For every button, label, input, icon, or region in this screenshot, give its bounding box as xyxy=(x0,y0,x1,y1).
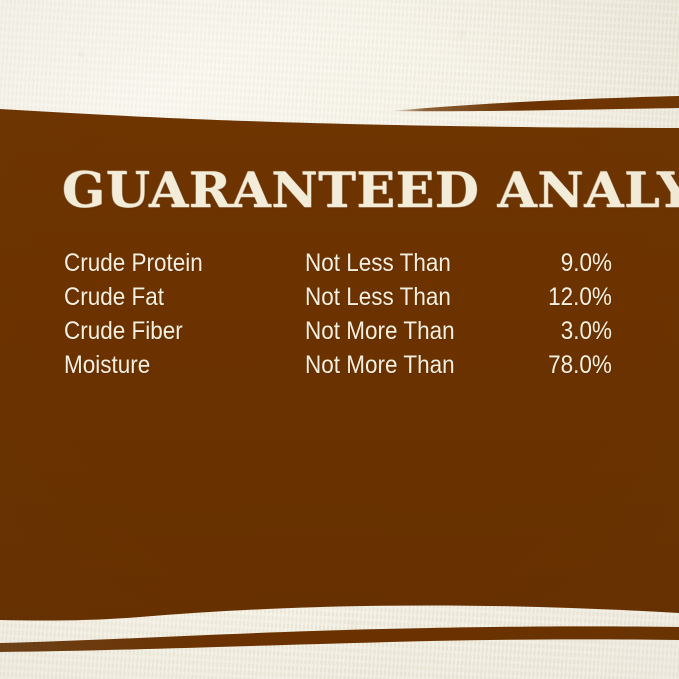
table-row: Crude Fiber Not More Than 3.0% xyxy=(0,314,679,348)
table-row: Crude Protein Not Less Than 9.0% xyxy=(0,246,679,280)
qualifier-label: Not Less Than xyxy=(305,280,451,314)
value-label: 12.0% xyxy=(548,280,612,314)
qualifier-label: Not More Than xyxy=(305,348,455,382)
qualifier-label: Not Less Than xyxy=(305,246,451,280)
nutrient-label: Crude Fiber xyxy=(64,314,183,348)
value-label: 9.0% xyxy=(561,246,612,280)
nutrient-label: Crude Fat xyxy=(64,280,164,314)
nutrient-label: Moisture xyxy=(64,348,150,382)
guaranteed-analysis-panel: GUARANTEED ANALYSIS Crude Protein Not Le… xyxy=(0,0,679,679)
page-title: GUARANTEED ANALYSIS xyxy=(62,163,642,217)
table-row: Crude Fat Not Less Than 12.0% xyxy=(0,280,679,314)
nutrient-label: Crude Protein xyxy=(64,246,203,280)
value-label: 78.0% xyxy=(548,348,612,382)
value-label: 3.0% xyxy=(561,314,612,348)
guaranteed-analysis-table: Crude Protein Not Less Than 9.0% Crude F… xyxy=(0,246,679,382)
panel-content: GUARANTEED ANALYSIS Crude Protein Not Le… xyxy=(0,0,679,679)
table-row: Moisture Not More Than 78.0% xyxy=(0,348,679,382)
qualifier-label: Not More Than xyxy=(305,314,455,348)
